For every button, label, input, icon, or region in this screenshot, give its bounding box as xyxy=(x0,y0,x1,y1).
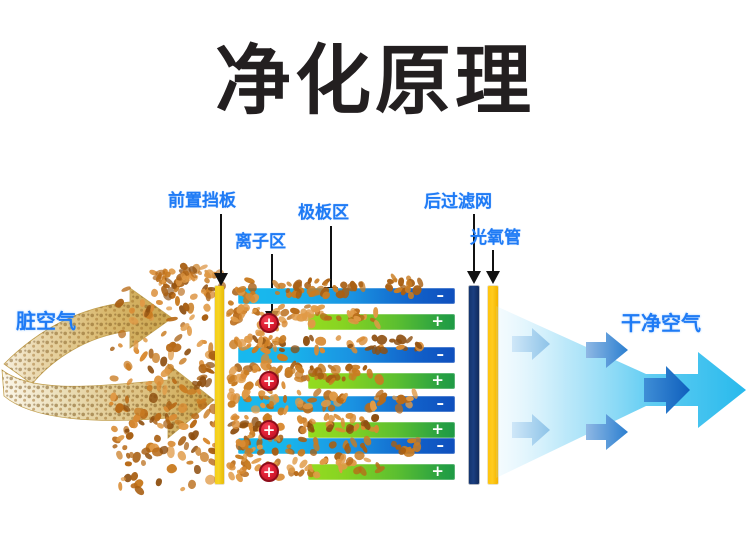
positive-sign: + xyxy=(431,462,444,480)
positive-sign: + xyxy=(431,312,444,330)
dirt-particle xyxy=(256,338,266,346)
dirt-particle xyxy=(233,315,244,325)
negative-sign: – xyxy=(437,394,445,412)
dirt-particle xyxy=(243,277,255,285)
dirt-particle xyxy=(293,364,305,376)
dirt-particle xyxy=(247,422,253,429)
negative-plate: – xyxy=(238,438,455,454)
dirt-particle xyxy=(233,338,238,344)
dirt-particle xyxy=(376,333,389,346)
dirt-particle xyxy=(240,369,247,380)
dirt-particle xyxy=(294,470,300,476)
dirt-particle xyxy=(399,277,405,286)
dirt-particle xyxy=(389,273,398,283)
dirt-particle xyxy=(407,279,416,288)
dirt-particle xyxy=(291,456,298,465)
dirt-particle xyxy=(300,374,308,382)
dirt-particle xyxy=(276,334,287,345)
dirt-particle xyxy=(296,414,305,425)
dirt-particle xyxy=(394,338,403,345)
dirt-particle xyxy=(231,380,239,387)
dirt-particle xyxy=(241,464,248,472)
dirt-particle xyxy=(239,457,249,468)
dirt-particle xyxy=(371,334,378,342)
negative-sign: – xyxy=(437,345,445,363)
dirty-air-arrows xyxy=(0,268,230,498)
dirt-particle xyxy=(238,422,249,430)
dirt-particle xyxy=(231,419,242,430)
dirt-particle xyxy=(351,364,360,370)
label-photo-oxygen-tube: 光氧管 xyxy=(470,228,521,248)
dirt-particle xyxy=(312,306,323,313)
ion-marker: + xyxy=(259,313,279,333)
dirt-particle xyxy=(395,333,409,345)
dirt-particle xyxy=(357,336,369,347)
dirt-particle xyxy=(241,453,249,463)
dirt-particle xyxy=(297,468,306,477)
dirt-particle xyxy=(405,336,414,345)
dirt-particle xyxy=(258,335,264,346)
dirt-particle xyxy=(416,277,425,289)
dirt-particle xyxy=(299,417,307,425)
label-dirty-air: 脏空气 xyxy=(16,309,76,333)
clean-air-arrows xyxy=(496,300,750,490)
dirt-particle xyxy=(390,339,396,344)
dirt-particle xyxy=(272,338,281,343)
dirt-particle xyxy=(307,277,313,285)
dirt-particle xyxy=(279,307,291,318)
dirt-particle xyxy=(285,280,292,287)
positive-plate: + xyxy=(308,314,455,330)
positive-plate: + xyxy=(308,464,455,480)
dirt-particle xyxy=(327,414,335,422)
dirt-particle xyxy=(310,304,322,314)
dirt-particle xyxy=(284,366,294,377)
dirt-particle xyxy=(243,306,250,313)
label-ion-zone: 离子区 xyxy=(235,232,286,252)
dirt-particle xyxy=(358,280,364,287)
dirt-particle xyxy=(346,413,354,419)
dirt-particle xyxy=(295,313,308,324)
dirt-particle xyxy=(237,465,248,476)
dirt-particle xyxy=(241,309,248,315)
dirt-particle xyxy=(251,307,262,317)
dirt-particle xyxy=(285,463,297,475)
dirt-particle xyxy=(303,304,311,310)
dirt-particle xyxy=(393,278,398,283)
dirt-particle xyxy=(251,334,259,343)
dirt-particle xyxy=(252,364,261,373)
dirt-particle xyxy=(294,376,305,384)
dirt-particle xyxy=(232,310,244,321)
dirt-particle xyxy=(243,459,252,470)
dirt-particle xyxy=(241,306,249,312)
dirt-particle xyxy=(243,414,249,420)
dirt-particle xyxy=(240,420,250,428)
dirt-particle xyxy=(299,426,308,436)
dirt-particle xyxy=(288,467,295,477)
dirt-particle xyxy=(243,369,251,377)
dirt-particle xyxy=(242,303,252,312)
dirt-particle xyxy=(405,275,412,282)
negative-sign: – xyxy=(437,286,445,304)
ion-marker: + xyxy=(259,462,279,482)
label-plate-zone: 极板区 xyxy=(298,203,349,223)
dirt-particle xyxy=(236,469,243,477)
dirt-particle xyxy=(269,335,274,341)
dirt-particle xyxy=(344,362,354,372)
dirt-particle xyxy=(362,457,371,464)
dirt-particle xyxy=(234,472,244,483)
positive-plate: + xyxy=(308,373,455,389)
dirt-particle xyxy=(281,320,288,328)
dirt-particle xyxy=(229,317,240,326)
dirt-particle xyxy=(314,337,325,346)
dirt-particle xyxy=(313,277,320,284)
dirt-particle xyxy=(387,279,395,285)
dirt-particle xyxy=(286,312,297,321)
negative-plate: – xyxy=(238,396,455,412)
dirt-particle xyxy=(334,334,342,342)
negative-plate: – xyxy=(238,288,455,304)
dirt-particle xyxy=(240,470,250,477)
dirt-particle xyxy=(362,365,369,372)
dirt-particle xyxy=(229,425,240,435)
dirt-particle xyxy=(290,368,295,375)
pointer-photo-oxygen-tube xyxy=(486,250,500,284)
dirt-particle xyxy=(308,334,315,342)
dirt-particle xyxy=(248,422,254,433)
dirt-particle xyxy=(277,337,283,343)
positive-plate: + xyxy=(308,422,455,438)
dirt-particle xyxy=(241,369,249,377)
page-title: 净化原理 xyxy=(0,38,750,124)
dirt-particle xyxy=(251,306,261,315)
dirt-particle xyxy=(231,415,240,422)
dirt-particle xyxy=(356,335,366,344)
dirt-particle xyxy=(322,412,330,421)
pointer-rear-filter xyxy=(467,214,481,284)
pointer-front-baffle xyxy=(214,214,228,286)
dirt-particle xyxy=(242,365,253,373)
dirt-particle xyxy=(243,336,252,345)
dirt-particle xyxy=(252,368,259,373)
diagram-canvas: 净化原理 xyxy=(0,0,750,541)
rear-filter-bar xyxy=(469,286,479,484)
dirt-particle xyxy=(291,312,301,321)
dirt-particle xyxy=(234,373,246,384)
dirt-particle xyxy=(283,368,294,379)
dirt-particle xyxy=(230,394,234,404)
dirt-particle xyxy=(274,336,281,342)
dirt-particle xyxy=(280,381,285,390)
dirt-particle xyxy=(235,308,242,312)
dirt-particle xyxy=(251,363,262,373)
dirt-particle xyxy=(297,458,308,470)
dirt-particle xyxy=(266,363,274,371)
dirt-particle xyxy=(303,336,311,346)
dirt-particle xyxy=(296,425,307,436)
ion-marker: + xyxy=(259,420,279,440)
dirt-particle xyxy=(246,333,255,342)
dirt-particle xyxy=(250,416,258,426)
dirt-particle xyxy=(309,365,315,371)
dirt-particle xyxy=(235,303,246,315)
dirt-particle xyxy=(327,364,338,373)
dirt-particle xyxy=(332,413,342,421)
dirt-particle xyxy=(254,308,258,312)
label-rear-filter: 后过滤网 xyxy=(424,192,492,212)
dirt-particle xyxy=(272,340,280,345)
dirt-particle xyxy=(239,421,249,430)
dirt-particle xyxy=(406,280,412,288)
dirt-particle xyxy=(229,315,239,324)
negative-plate: – xyxy=(238,347,455,363)
dirt-particle xyxy=(316,304,326,312)
dirt-particle xyxy=(241,379,255,393)
dirt-particle xyxy=(232,305,244,315)
dirt-particle xyxy=(235,454,244,460)
dirt-particle xyxy=(289,308,300,316)
ion-marker: + xyxy=(259,371,279,391)
dirt-particle xyxy=(251,456,262,464)
positive-sign: + xyxy=(431,371,444,389)
dirt-particle xyxy=(229,412,238,421)
dirt-particle xyxy=(233,362,243,373)
front-baffle-bar xyxy=(215,286,224,484)
label-front-baffle: 前置挡板 xyxy=(168,191,236,211)
negative-sign: – xyxy=(437,436,445,454)
dirt-particle xyxy=(340,454,347,465)
dirt-particle xyxy=(292,369,304,381)
dirt-particle xyxy=(238,372,249,383)
dirt-particle xyxy=(237,309,247,321)
